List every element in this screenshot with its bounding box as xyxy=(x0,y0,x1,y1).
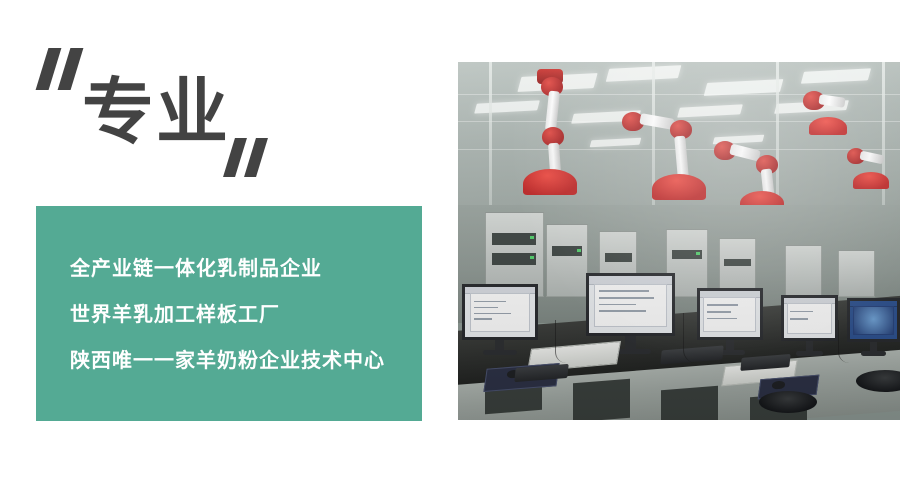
highlights-panel: 全产业链一体化乳制品企业 世界羊乳加工样板工厂 陕西唯一一家羊奶粉企业技术中心 xyxy=(36,206,422,421)
left-text-column: 专业 全产业链一体化乳制品企业 世界羊乳加工样板工厂 陕西唯一一家羊奶粉企业技术… xyxy=(0,0,440,500)
quote-bar xyxy=(244,138,268,177)
cable xyxy=(555,320,566,363)
bench-opening xyxy=(661,386,718,420)
highlight-line-3: 陕西唯一一家羊奶粉企业技术中心 xyxy=(70,350,422,370)
quote-bar xyxy=(58,48,84,90)
cable xyxy=(838,320,849,363)
computer-monitor xyxy=(847,298,900,355)
computer-monitor xyxy=(781,295,838,356)
cable xyxy=(683,313,696,363)
lab-instrument xyxy=(785,245,822,297)
highlight-line-1: 全产业链一体化乳制品企业 xyxy=(70,258,422,278)
highlight-line-2: 世界羊乳加工样板工厂 xyxy=(70,304,422,324)
closing-quotation-mark-icon xyxy=(229,138,262,177)
computer-mouse xyxy=(772,380,785,389)
lab-instrument xyxy=(838,250,875,297)
computer-monitor xyxy=(462,284,537,356)
page-title: 专业 xyxy=(82,76,230,148)
opening-quotation-mark-icon xyxy=(42,48,77,90)
photo-scene xyxy=(458,62,900,420)
quote-bar xyxy=(36,48,62,90)
headline-block: 专业 xyxy=(36,48,316,188)
laboratory-photo xyxy=(458,62,900,420)
bench-opening xyxy=(573,378,630,420)
computer-monitor xyxy=(697,288,763,356)
lab-instrument xyxy=(546,224,588,297)
promo-banner: 专业 全产业链一体化乳制品企业 世界羊乳加工样板工厂 陕西唯一一家羊奶粉企业技术… xyxy=(0,0,900,500)
